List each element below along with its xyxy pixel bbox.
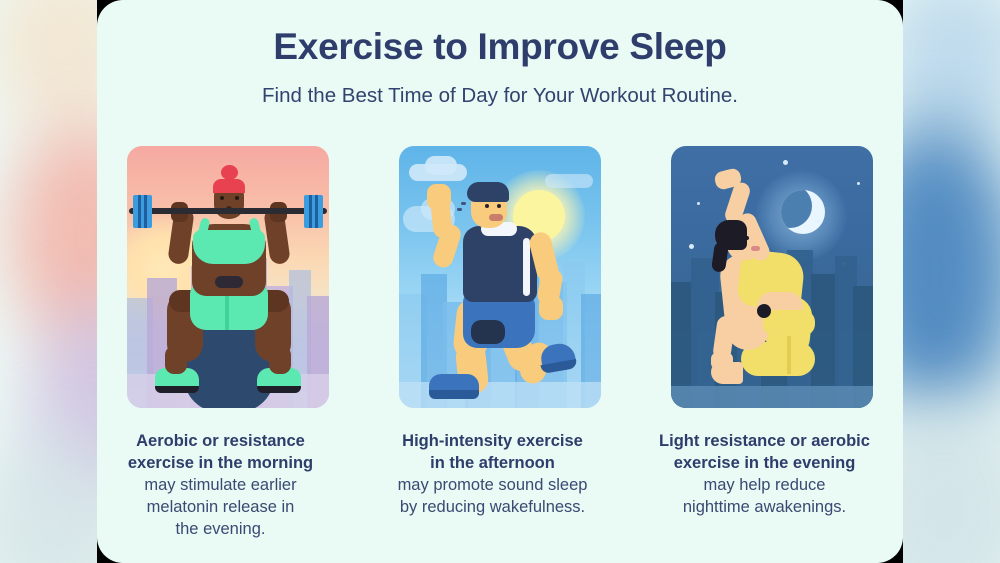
exercise-columns: Aerobic or resistance exercise in the mo… bbox=[127, 146, 873, 541]
hand-left bbox=[427, 184, 451, 210]
caption-body-line: may help reduce bbox=[649, 475, 881, 497]
caption-body-line: may stimulate earlier bbox=[105, 475, 337, 497]
page-title: Exercise to Improve Sleep bbox=[97, 26, 903, 68]
card-corner-notch bbox=[97, 0, 123, 26]
card-corner-notch bbox=[877, 537, 903, 563]
card-corner-notch bbox=[97, 537, 123, 563]
calf-right bbox=[269, 346, 291, 374]
caption-body-line: nighttime awakenings. bbox=[649, 497, 881, 519]
hair bbox=[467, 182, 509, 202]
illustration-morning bbox=[127, 146, 329, 408]
caption-headline-line: Aerobic or resistance bbox=[105, 431, 337, 453]
crescent-moon-icon bbox=[781, 190, 825, 234]
exercise-card-morning: Aerobic or resistance exercise in the mo… bbox=[127, 146, 329, 541]
cloud bbox=[425, 156, 457, 175]
caption-afternoon: High-intensity exercise in the afternoon… bbox=[377, 431, 609, 519]
eye-left bbox=[220, 196, 224, 200]
hair bbox=[213, 179, 245, 193]
hand-support bbox=[711, 352, 733, 370]
caption-headline-line: Light resistance or aerobic bbox=[649, 431, 881, 453]
hand-right bbox=[539, 296, 563, 320]
shoe-front-sole bbox=[429, 390, 479, 399]
shoe-sole-right bbox=[257, 386, 301, 393]
shorts-shadow bbox=[471, 320, 505, 344]
caption-headline-line: exercise in the morning bbox=[105, 453, 337, 475]
caption-body-line: by reducing wakefulness. bbox=[377, 497, 609, 519]
eye bbox=[497, 204, 501, 208]
caption-body-line: melatonin release in bbox=[105, 497, 337, 519]
navel-shadow bbox=[757, 304, 771, 318]
star-icon bbox=[857, 182, 860, 185]
caption-headline-line: in the afternoon bbox=[377, 453, 609, 475]
caption-evening: Light resistance or aerobic exercise in … bbox=[649, 431, 881, 519]
illustration-afternoon bbox=[399, 146, 601, 408]
calf-left bbox=[165, 346, 187, 374]
leg-seam bbox=[787, 336, 791, 374]
exercise-card-afternoon: High-intensity exercise in the afternoon… bbox=[399, 146, 601, 541]
star-icon bbox=[689, 244, 694, 249]
shoe-sole-left bbox=[155, 386, 199, 393]
barbell-bar bbox=[129, 208, 327, 214]
mouth bbox=[489, 214, 503, 221]
barbell-plate-right bbox=[304, 195, 323, 228]
caption-body-line: may promote sound sleep bbox=[377, 475, 609, 497]
skyline-base bbox=[671, 386, 873, 408]
waistband bbox=[763, 310, 815, 336]
cloud bbox=[545, 174, 593, 188]
page-subtitle: Find the Best Time of Day for Your Worko… bbox=[97, 84, 903, 108]
mouth bbox=[751, 246, 760, 251]
card-corner-notch bbox=[877, 0, 903, 26]
sweat-drop bbox=[457, 208, 462, 211]
illustration-evening bbox=[671, 146, 873, 408]
caption-headline-line: High-intensity exercise bbox=[377, 431, 609, 453]
sweat-drop bbox=[461, 202, 466, 205]
infographic-card: Exercise to Improve Sleep Find the Best … bbox=[97, 0, 903, 563]
tank-stripe bbox=[523, 238, 530, 296]
caption-headline-line: exercise in the evening bbox=[649, 453, 881, 475]
star-icon bbox=[697, 202, 700, 205]
star-icon bbox=[783, 160, 788, 165]
star-icon bbox=[817, 220, 820, 223]
screenshot-root: Exercise to Improve Sleep Find the Best … bbox=[0, 0, 1000, 563]
eye-right bbox=[235, 196, 239, 200]
eye bbox=[745, 236, 749, 240]
barbell-plate-left bbox=[133, 195, 152, 228]
waistband bbox=[215, 276, 243, 288]
hair-bun bbox=[221, 165, 238, 180]
eye bbox=[485, 204, 489, 208]
exercise-card-evening: Light resistance or aerobic exercise in … bbox=[671, 146, 873, 541]
